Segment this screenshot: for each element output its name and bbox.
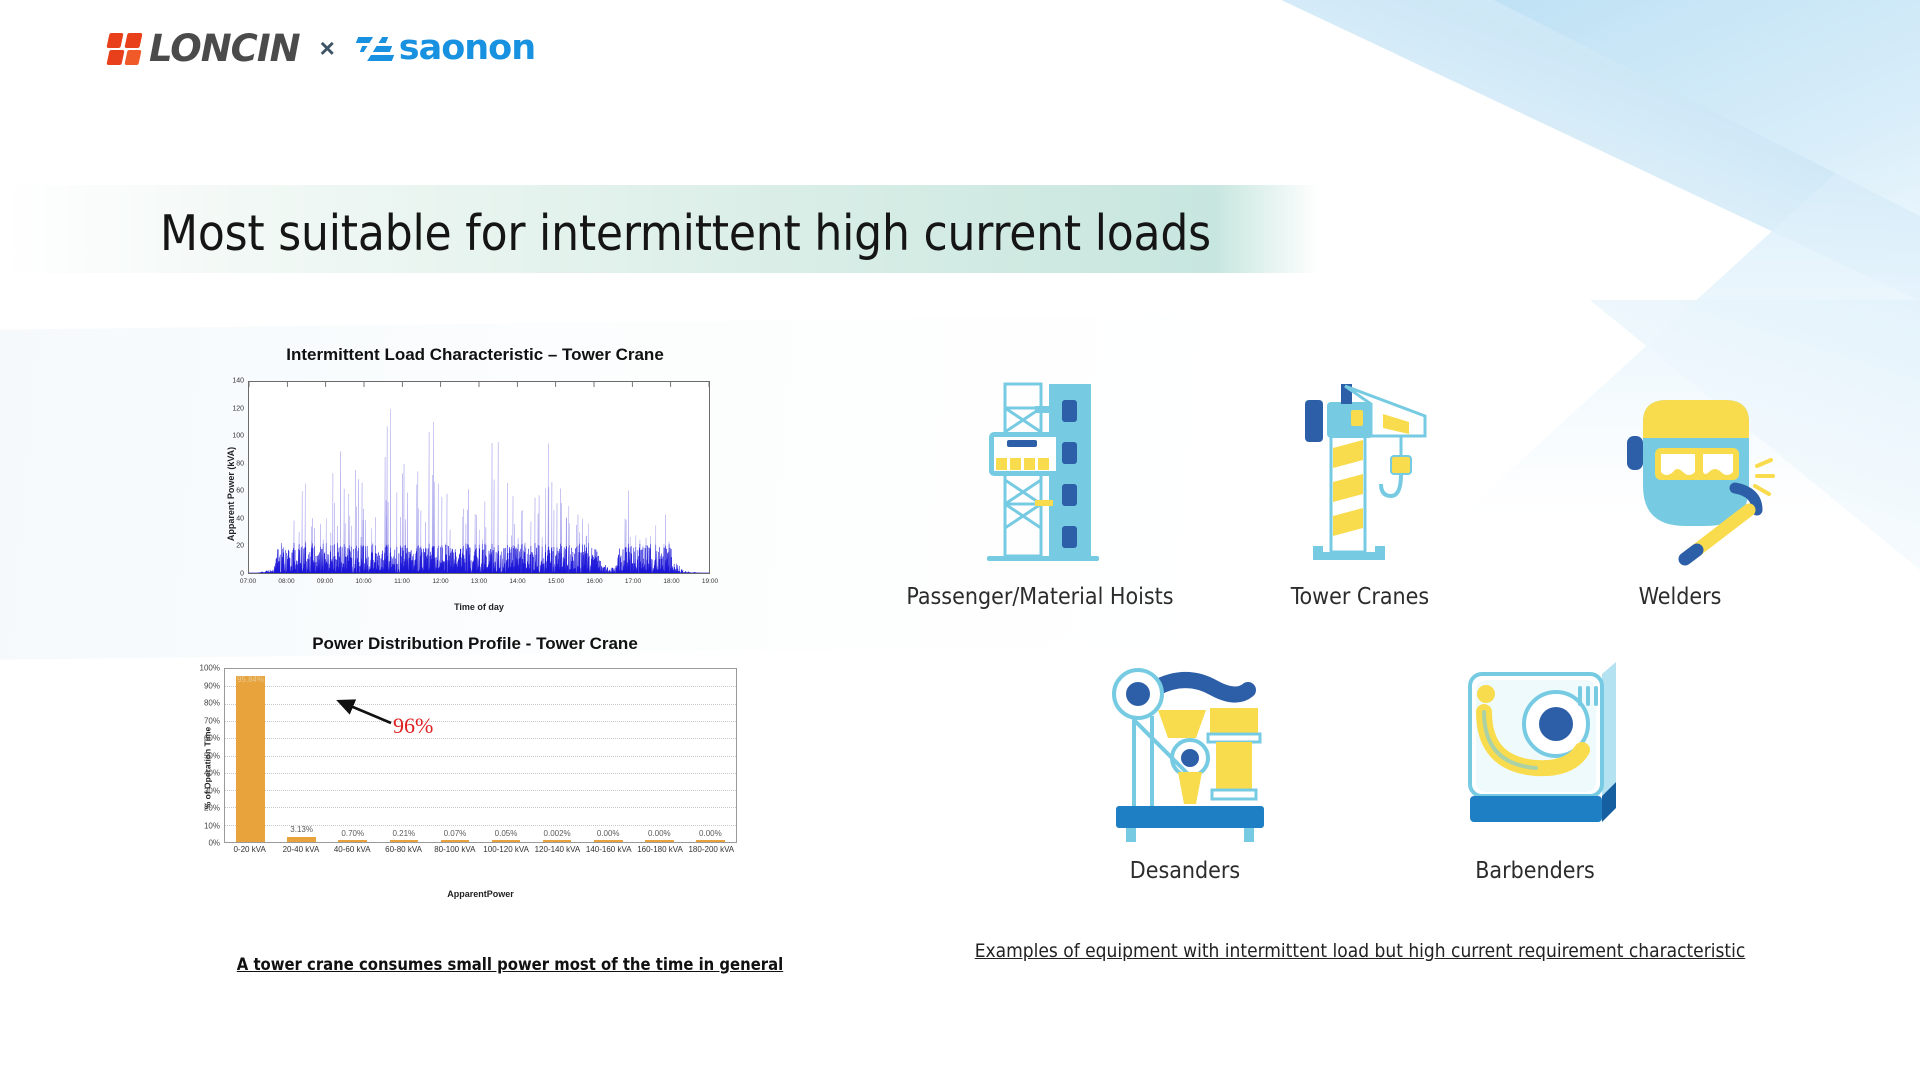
equipment-label: Barbenders (1475, 858, 1595, 884)
chart2-y-tick: 100% (200, 664, 220, 673)
background-triangle-b (1400, 0, 1920, 300)
chart2-x-tick: 0-20 kVA (224, 845, 275, 879)
chart1-x-tick: 15:00 (548, 578, 564, 585)
loncin-mark-icon (108, 32, 144, 66)
chart2-bar (543, 840, 572, 842)
chart2-bar-cell: 0.21% (378, 669, 429, 842)
chart1-x-ticks: 07:0008:0009:0010:0011:0012:0013:0014:00… (248, 578, 710, 590)
desander-icon (1090, 634, 1280, 844)
chart2-y-tick: 0% (208, 839, 220, 848)
chart1-series-svg (249, 382, 709, 573)
equipment-label: Tower Cranes (1291, 584, 1429, 610)
chart2-bar-value: 0.07% (444, 829, 467, 838)
chart2-bars: 95.84%3.13%0.70%0.21%0.07%0.05%0.002%0.0… (225, 669, 736, 842)
chart1-plot-area (248, 381, 710, 574)
chart2-y-tick: 50% (204, 751, 220, 760)
chart2-plot-area: 95.84%3.13%0.70%0.21%0.07%0.05%0.002%0.0… (224, 668, 737, 843)
equipment-item-welder: Welders (1530, 360, 1830, 610)
chart2-x-tick: 160-180 kVA (634, 845, 685, 879)
chart1-x-tick: 14:00 (509, 578, 525, 585)
chart2-bar-value: 95.84% (237, 675, 264, 684)
tower-crane-icon (1275, 360, 1445, 570)
equipment-examples-column: Passenger/Material Hoists (880, 360, 1840, 884)
chart2-bar-cell: 3.13% (276, 669, 327, 842)
chart2-bar (338, 840, 367, 842)
chart1-x-tick: 18:00 (663, 578, 679, 585)
chart1-y-tick: 140 (232, 378, 244, 385)
brand-separator-icon: × (320, 33, 335, 64)
chart1-x-tick: 09:00 (317, 578, 333, 585)
chart2-bar-value: 0.00% (648, 829, 671, 838)
chart2-bar-cell: 0.002% (532, 669, 583, 842)
chart2-bar (441, 840, 470, 842)
welder-icon (1585, 360, 1775, 570)
chart2-y-tick: 10% (204, 821, 220, 830)
chart2-bar (287, 837, 316, 842)
chart2-bar-cell: 0.05% (480, 669, 531, 842)
equipment-row-1: Passenger/Material Hoists (880, 360, 1840, 610)
loncin-logo: LONCIN (108, 30, 300, 67)
equipment-label: Desanders (1130, 858, 1240, 884)
chart1-x-axis-label: Time of day (248, 602, 710, 612)
chart2-bar (594, 840, 623, 842)
hoist-icon (965, 360, 1115, 570)
chart2-annotation: 96% (393, 713, 433, 739)
page-title: Most suitable for intermittent high curr… (160, 205, 1211, 262)
chart2-bar-value: 0.05% (495, 829, 518, 838)
chart2-y-tick: 30% (204, 786, 220, 795)
left-caption: A tower crane consumes small power most … (150, 955, 870, 974)
chart1-y-tick: 100 (232, 433, 244, 440)
annotation-arrow-icon (333, 697, 395, 731)
equipment-item-hoist: Passenger/Material Hoists (890, 360, 1190, 610)
chart2-bar-value: 0.21% (392, 829, 415, 838)
chart1-y-tick: 0 (240, 571, 244, 578)
chart2-bar-cell: 0.70% (327, 669, 378, 842)
saonon-wordmark: saonon (399, 31, 535, 66)
chart1-x-tick: 17:00 (625, 578, 641, 585)
right-caption: Examples of equipment with intermittent … (880, 940, 1840, 962)
chart2-y-tick: 20% (204, 804, 220, 813)
chart2-y-tick: 70% (204, 716, 220, 725)
chart2-title: Power Distribution Profile - Tower Crane (150, 634, 800, 654)
chart2-bar-value: 0.70% (341, 829, 364, 838)
chart2-bar-value: 0.00% (699, 829, 722, 838)
chart2-bar-cell: 95.84% (225, 669, 276, 842)
power-distribution-bar-chart: % of Operation Time 100%90%80%70%60%50%4… (168, 660, 743, 905)
chart2-bar (492, 840, 521, 842)
chart1-x-tick: 16:00 (586, 578, 602, 585)
chart2-bar (696, 840, 725, 842)
barbender-icon (1440, 634, 1630, 844)
chart1-x-tick: 07:00 (240, 578, 256, 585)
chart1-x-tick: 10:00 (355, 578, 371, 585)
chart2-bar (390, 840, 419, 842)
chart1-x-tick: 08:00 (278, 578, 294, 585)
chart2-bar-cell: 0.00% (583, 669, 634, 842)
chart1-y-tick: 80 (236, 460, 244, 467)
background-triangle-a (1260, 0, 1920, 320)
chart2-bar-cell: 0.00% (685, 669, 736, 842)
equipment-row-2: Desanders (880, 634, 1840, 884)
equipment-label: Welders (1639, 584, 1722, 610)
equipment-item-desander: Desanders (1035, 634, 1335, 884)
equipment-item-barbender: Barbenders (1385, 634, 1685, 884)
equipment-item-tower-crane: Tower Cranes (1210, 360, 1510, 610)
chart2-y-tick: 80% (204, 699, 220, 708)
left-charts-column: Intermittent Load Characteristic – Tower… (150, 345, 800, 905)
chart2-x-tick: 60-80 kVA (378, 845, 429, 879)
equipment-label: Passenger/Material Hoists (906, 584, 1173, 610)
saonon-lightning-icon (355, 34, 395, 64)
saonon-logo: saonon (355, 31, 535, 66)
chart1-y-tick: 20 (236, 543, 244, 550)
chart2-x-tick: 40-60 kVA (327, 845, 378, 879)
brand-logo-bar: LONCIN × saonon (108, 30, 535, 67)
chart2-bar-value: 0.002% (544, 829, 571, 838)
chart2-x-tick: 120-140 kVA (532, 845, 583, 879)
chart2-x-axis-label: ApparentPower (224, 889, 737, 899)
chart1-title: Intermittent Load Characteristic – Tower… (150, 345, 800, 365)
chart2-y-tick: 60% (204, 734, 220, 743)
chart1-x-tick: 13:00 (471, 578, 487, 585)
chart2-x-tick: 100-120 kVA (480, 845, 531, 879)
chart2-x-tick: 180-200 kVA (686, 845, 737, 879)
chart2-y-tick: 40% (204, 769, 220, 778)
chart1-x-tick: 12:00 (432, 578, 448, 585)
chart2-bar-cell: 0.07% (429, 669, 480, 842)
chart2-x-tick: 140-160 kVA (583, 845, 634, 879)
chart2-y-tick: 90% (204, 681, 220, 690)
intermittent-load-line-chart: Apparent Power (kVA) 140120100806040200 … (188, 371, 718, 616)
chart1-x-tick: 11:00 (394, 578, 410, 585)
chart1-y-tick: 40 (236, 515, 244, 522)
chart2-bar (236, 676, 265, 842)
loncin-wordmark: LONCIN (149, 30, 300, 67)
chart2-bar (645, 840, 674, 842)
chart2-bar-value: 3.13% (290, 825, 313, 834)
chart2-bar-value: 0.00% (597, 829, 620, 838)
chart2-x-tick: 20-40 kVA (275, 845, 326, 879)
chart2-bar-cell: 0.00% (634, 669, 685, 842)
chart2-x-tick: 80-100 kVA (429, 845, 480, 879)
chart2-x-ticks: 0-20 kVA20-40 kVA40-60 kVA60-80 kVA80-10… (224, 845, 737, 879)
chart1-x-tick: 19:00 (702, 578, 718, 585)
chart1-y-axis-label: Apparent Power (kVA) (226, 446, 236, 540)
chart1-y-tick: 120 (232, 405, 244, 412)
chart1-y-tick: 60 (236, 488, 244, 495)
slide-canvas: LONCIN × saonon Most suitable for interm… (0, 0, 1920, 1080)
